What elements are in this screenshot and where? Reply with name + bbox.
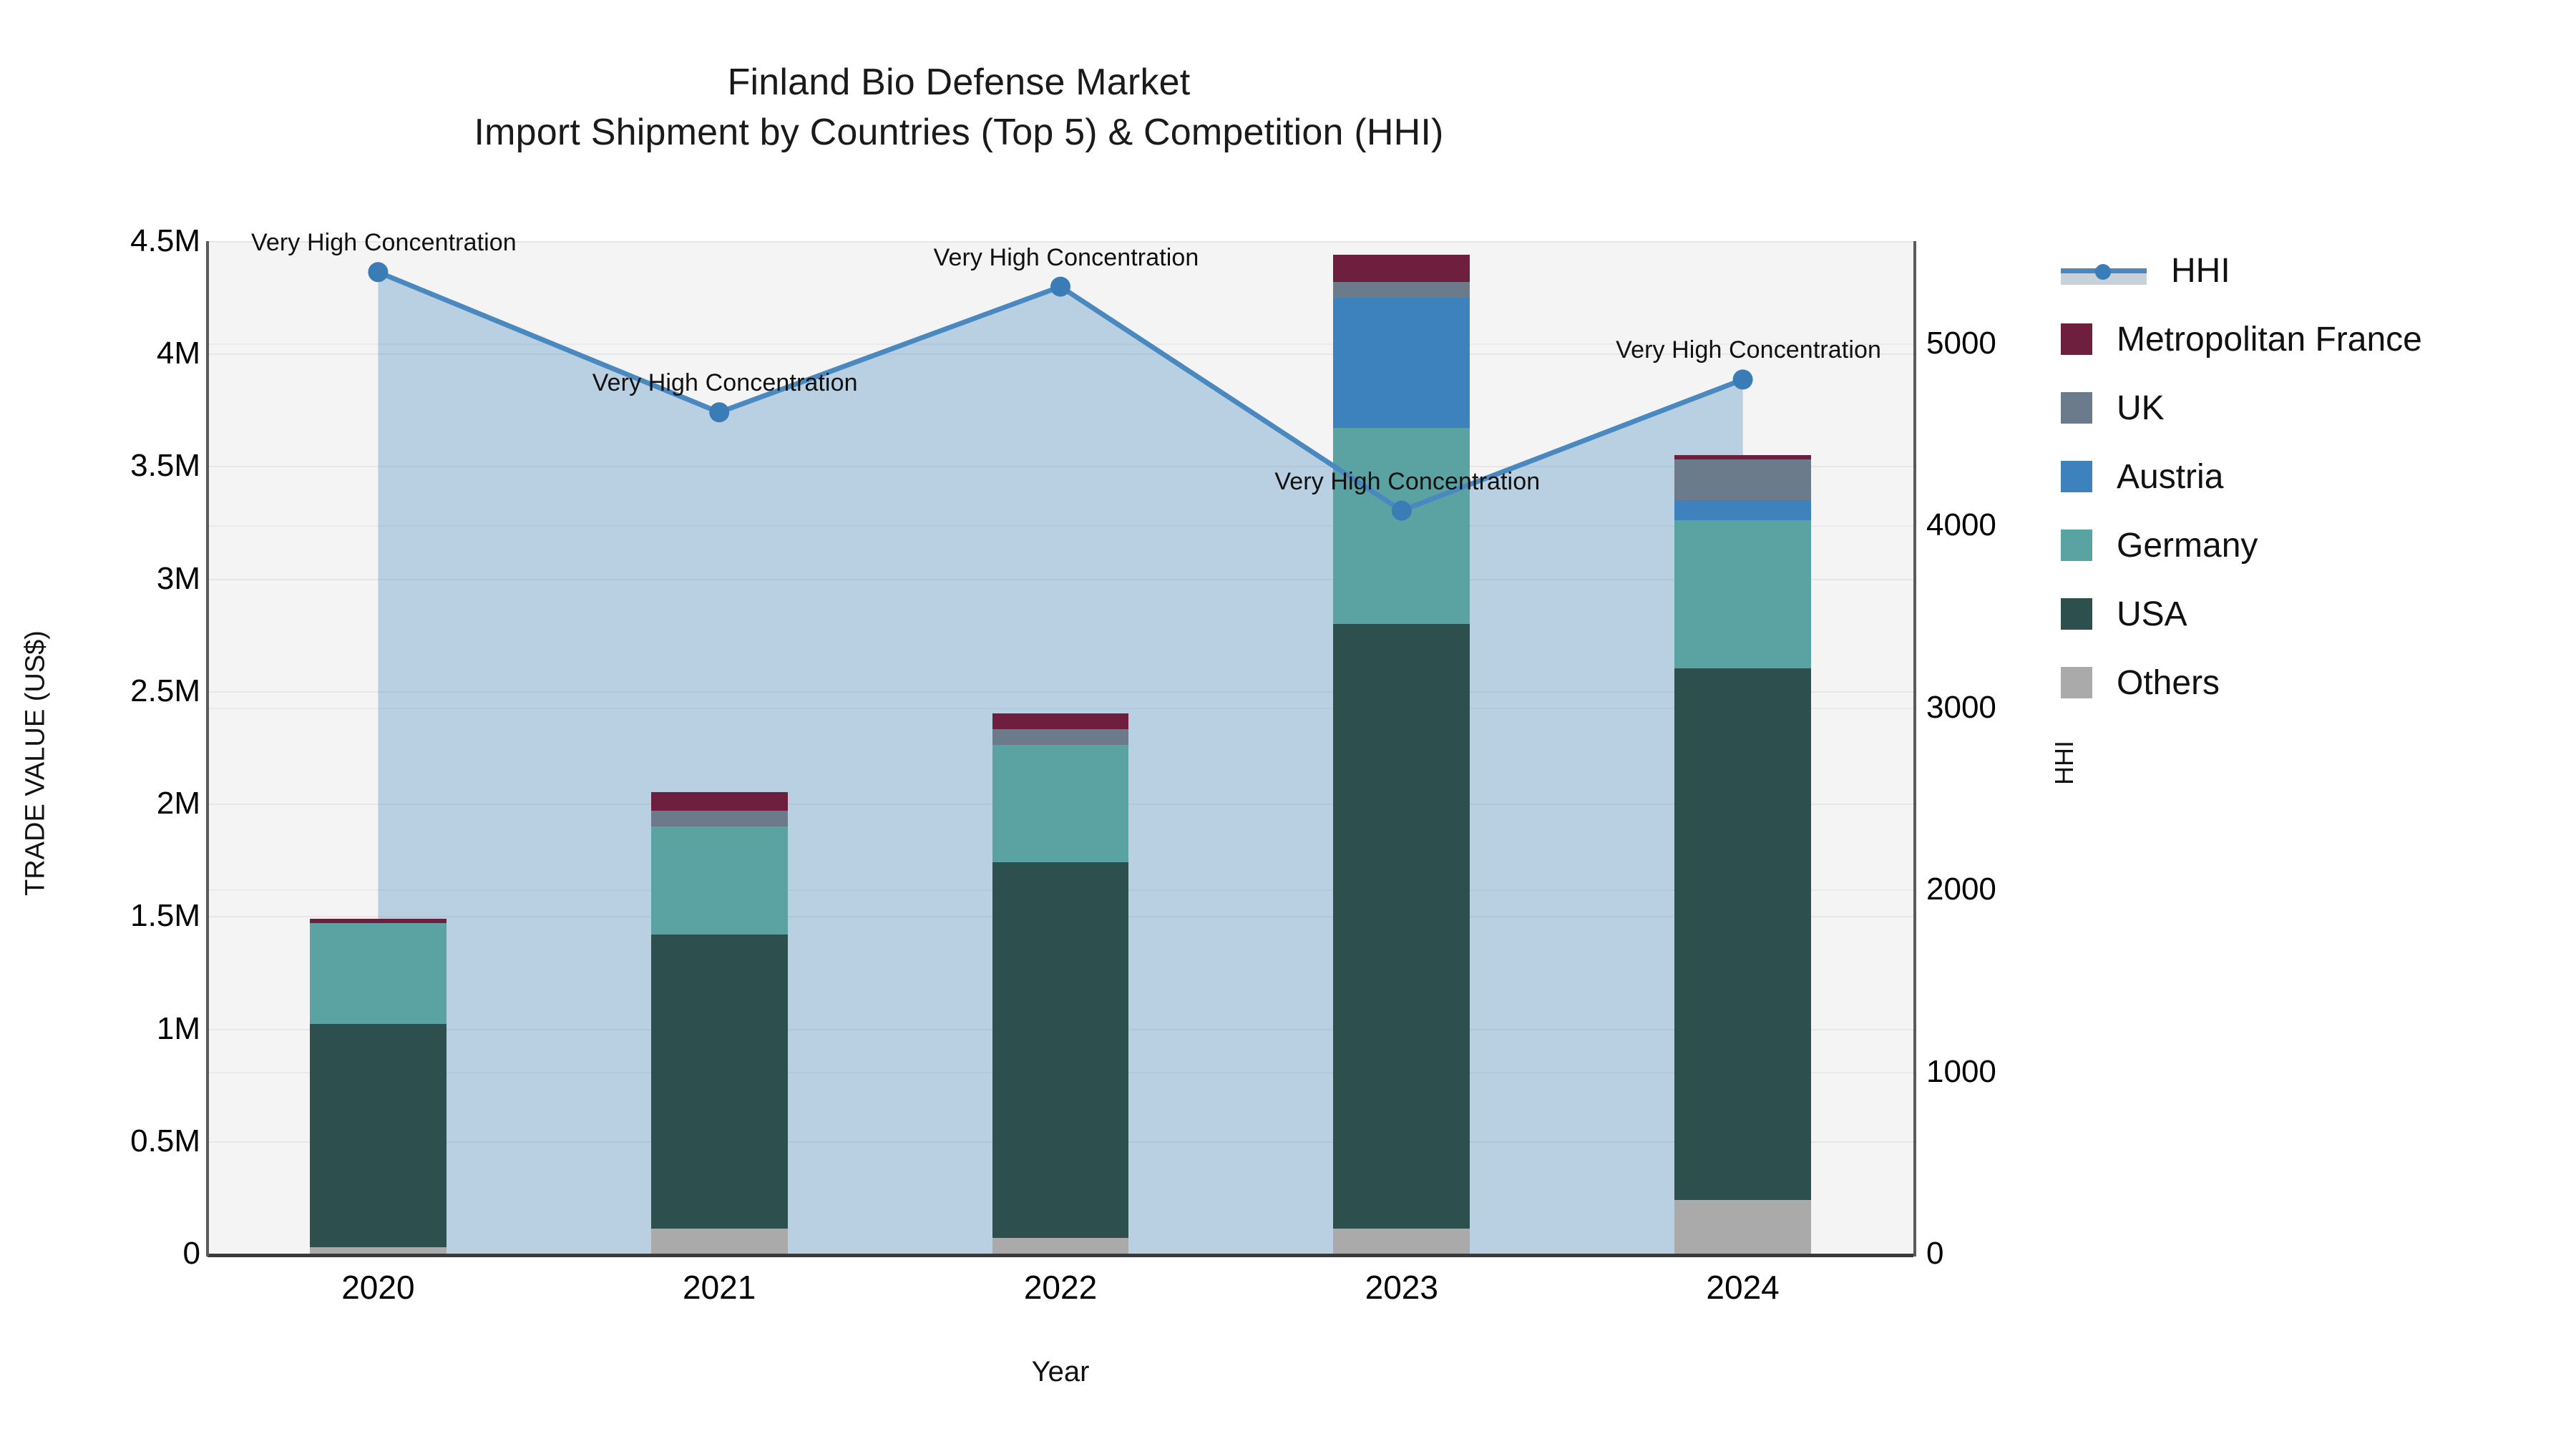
legend-item-austria[interactable]: Austria [2061, 442, 2562, 511]
bar-group-2020[interactable] [310, 241, 447, 1254]
plot-area [208, 241, 1913, 1254]
legend-swatch-icon [2061, 461, 2092, 492]
legend-item-usa[interactable]: USA [2061, 580, 2562, 648]
x-tick-2022: 2022 [1024, 1268, 1097, 1307]
bar-segment-usa-2023[interactable] [1333, 624, 1470, 1229]
y-axis-left-spine [206, 241, 209, 1257]
chart-title-line-1: Finland Bio Defense Market [0, 57, 1918, 107]
legend-label: USA [2117, 595, 2187, 634]
y-tick-right-5: 5000 [1926, 326, 1996, 361]
bar-segment-austria-2023[interactable] [1333, 298, 1470, 428]
y-tick-left-6: 3M [157, 561, 200, 597]
chart-figure: Finland Bio Defense Market Import Shipme… [0, 0, 2576, 1449]
bar-segment-uk-2023[interactable] [1333, 282, 1470, 298]
y-axis-right-spine [1913, 241, 1916, 1257]
y-tick-left-7: 3.5M [130, 448, 200, 484]
annotation-2021: Very High Concentration [592, 369, 858, 397]
y-tick-right-0: 0 [1926, 1236, 1943, 1272]
legend-label: Germany [2117, 526, 2258, 565]
bar-segment-metropolitan-france-2022[interactable] [992, 713, 1129, 729]
annotation-2024: Very High Concentration [1616, 336, 1881, 364]
y-axis-left-label: TRADE VALUE (US$) [21, 513, 52, 1014]
y-tick-right-3: 3000 [1926, 690, 1996, 726]
annotation-2022: Very High Concentration [934, 244, 1199, 272]
legend-swatch-icon [2061, 598, 2092, 630]
bar-segment-usa-2021[interactable] [651, 935, 788, 1229]
legend-label: Austria [2117, 457, 2223, 497]
plot-clip [208, 241, 1913, 1254]
bar-segment-germany-2023[interactable] [1333, 428, 1470, 624]
chart-title-line-2: Import Shipment by Countries (Top 5) & C… [0, 107, 1918, 157]
bar-segment-usa-2022[interactable] [992, 862, 1129, 1238]
bar-segment-uk-2022[interactable] [992, 729, 1129, 745]
annotation-2020: Very High Concentration [251, 229, 517, 257]
legend-label: HHI [2171, 251, 2230, 291]
x-tick-2021: 2021 [683, 1268, 756, 1307]
bar-segment-metropolitan-france-2024[interactable] [1674, 455, 1811, 459]
bar-group-2023[interactable] [1333, 241, 1470, 1254]
bar-segment-germany-2020[interactable] [310, 923, 447, 1025]
bar-segment-usa-2024[interactable] [1674, 668, 1811, 1199]
legend-swatch-icon [2061, 667, 2092, 698]
y-tick-left-9: 4.5M [130, 223, 200, 259]
y-tick-left-5: 2.5M [130, 673, 200, 709]
legend-swatch-icon [2061, 530, 2092, 561]
bar-segment-metropolitan-france-2021[interactable] [651, 792, 788, 810]
bar-segment-uk-2021[interactable] [651, 811, 788, 826]
legend-item-metropolitan-france[interactable]: Metropolitan France [2061, 305, 2562, 374]
y-tick-left-8: 4M [157, 336, 200, 371]
legend-label: UK [2117, 389, 2165, 428]
bar-segment-metropolitan-france-2020[interactable] [310, 919, 447, 923]
bar-segment-others-2024[interactable] [1674, 1200, 1811, 1254]
legend-item-others[interactable]: Others [2061, 648, 2562, 717]
bar-segment-austria-2024[interactable] [1674, 500, 1811, 520]
bar-segment-uk-2024[interactable] [1674, 459, 1811, 500]
bar-segment-germany-2024[interactable] [1674, 520, 1811, 669]
legend-item-hhi[interactable]: HHI [2061, 236, 2562, 305]
bar-group-2022[interactable] [992, 241, 1129, 1254]
chart-title: Finland Bio Defense Market Import Shipme… [0, 57, 1918, 157]
legend-swatch-icon [2061, 392, 2092, 424]
y-tick-left-2: 1M [157, 1011, 200, 1047]
x-axis-spine [208, 1254, 1913, 1257]
legend-label: Others [2117, 663, 2220, 703]
annotation-2023: Very High Concentration [1274, 468, 1540, 496]
y-tick-right-4: 4000 [1926, 507, 1996, 543]
legend-swatch-icon [2061, 323, 2092, 355]
bar-segment-others-2021[interactable] [651, 1229, 788, 1254]
bar-segment-others-2020[interactable] [310, 1247, 447, 1254]
bar-segment-germany-2022[interactable] [992, 745, 1129, 862]
y-tick-left-0: 0 [183, 1236, 200, 1272]
y-tick-left-1: 0.5M [130, 1123, 200, 1159]
x-tick-2020: 2020 [341, 1268, 414, 1307]
bar-group-2024[interactable] [1674, 241, 1811, 1254]
x-tick-2024: 2024 [1706, 1268, 1779, 1307]
bar-segment-others-2023[interactable] [1333, 1229, 1470, 1254]
x-tick-2023: 2023 [1365, 1268, 1438, 1307]
bar-segment-usa-2020[interactable] [310, 1024, 447, 1246]
y-tick-right-2: 2000 [1926, 872, 1996, 907]
chart-legend: HHIMetropolitan FranceUKAustriaGermanyUS… [2061, 236, 2562, 717]
legend-item-germany[interactable]: Germany [2061, 511, 2562, 580]
y-tick-left-3: 1.5M [130, 898, 200, 934]
x-axis-label: Year [208, 1356, 1913, 1388]
legend-item-uk[interactable]: UK [2061, 374, 2562, 442]
y-tick-right-1: 1000 [1926, 1054, 1996, 1090]
legend-label: Metropolitan France [2117, 320, 2422, 359]
y-tick-left-4: 2M [157, 786, 200, 821]
bar-segment-metropolitan-france-2023[interactable] [1333, 255, 1470, 282]
legend-line-icon [2061, 255, 2147, 286]
bar-segment-germany-2021[interactable] [651, 826, 788, 935]
bar-segment-others-2022[interactable] [992, 1238, 1129, 1254]
